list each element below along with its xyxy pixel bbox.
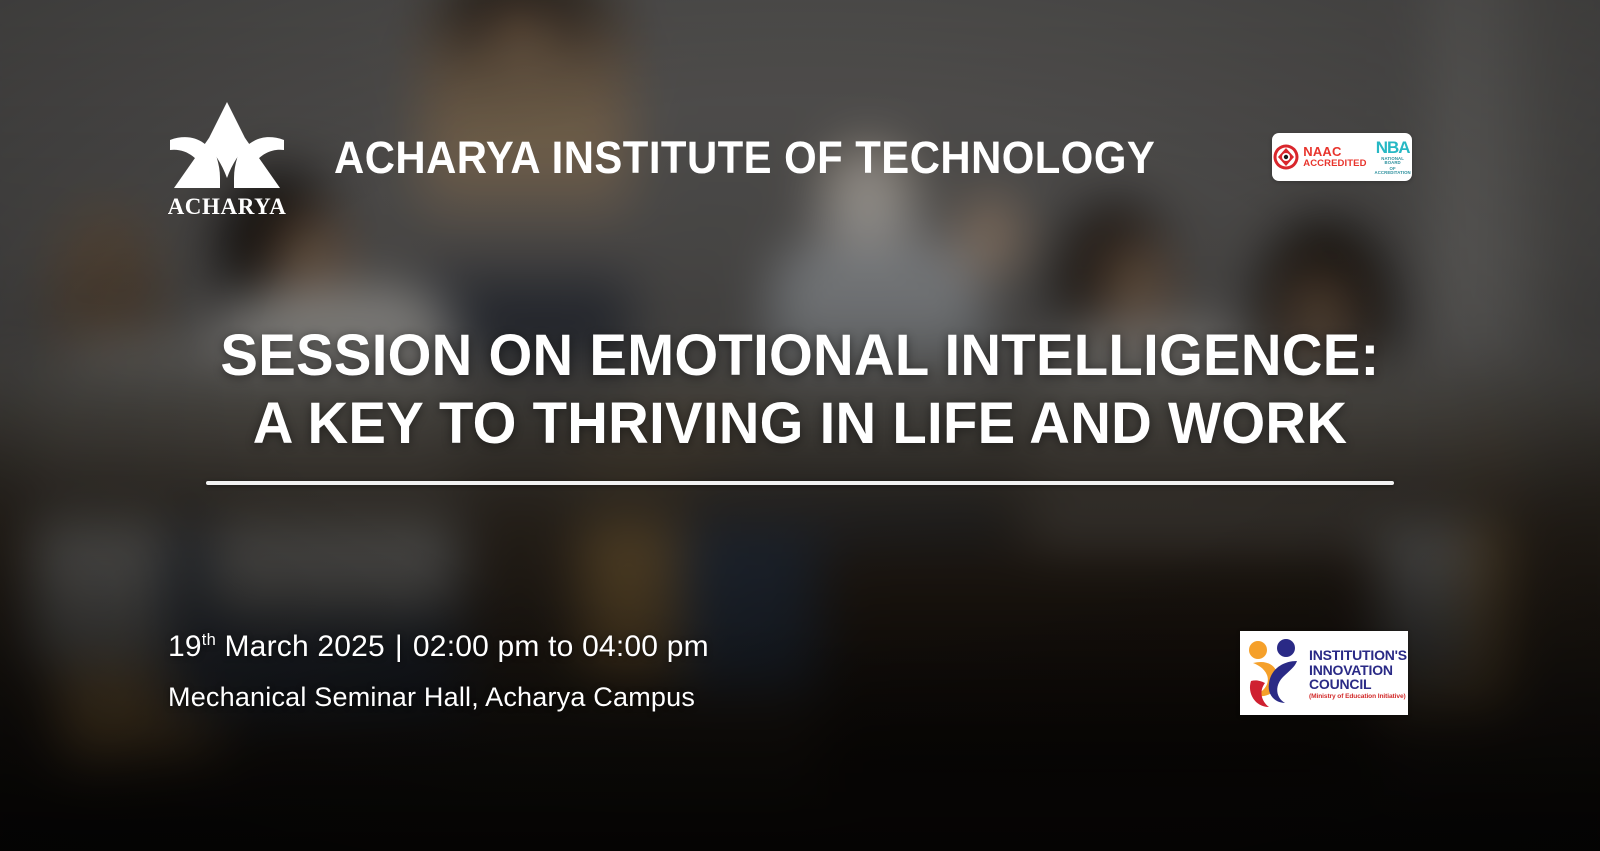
poster-content: ACHARYA ACHARYA INSTITUTE OF TECHNOLOGY …: [0, 0, 1600, 851]
naac-wordmark: NAAC ACCREDITED: [1303, 145, 1366, 169]
iic-line2: INNOVATION: [1309, 663, 1407, 677]
accreditation-badge: NAAC ACCREDITED NBA NATIONAL BOARD OF AC…: [1272, 133, 1412, 181]
naac-group: NAAC ACCREDITED: [1273, 144, 1366, 170]
event-time: 02:00 pm to 04:00 pm: [413, 630, 709, 663]
naac-seal-icon: [1273, 144, 1299, 170]
nba-sub-line2: OF ACCREDITATION: [1375, 167, 1411, 176]
naac-line2: ACCREDITED: [1303, 159, 1366, 169]
nba-mark: NBA: [1376, 139, 1410, 156]
event-datetime: 19th March 2025|02:00 pm to 04:00 pm: [168, 630, 709, 664]
acharya-triangle-logo-icon: ACHARYA: [168, 96, 286, 220]
event-date-rest: March 2025: [216, 630, 385, 663]
iic-line1: INSTITUTION'S: [1309, 648, 1407, 662]
iic-line4: (Ministry of Education Initiative): [1309, 694, 1407, 701]
event-venue: Mechanical Seminar Hall, Acharya Campus: [168, 682, 709, 713]
nba-group: NBA NATIONAL BOARD OF ACCREDITATION: [1375, 139, 1411, 175]
poster-title-line-2: A KEY TO THRIVING IN LIFE AND WORK: [24, 390, 1576, 458]
event-poster: ACHARYA ACHARYA INSTITUTE OF TECHNOLOGY …: [0, 0, 1600, 851]
nba-sub-line1: NATIONAL BOARD: [1375, 157, 1411, 166]
iic-badge: INSTITUTION'S INNOVATION COUNCIL (Minist…: [1240, 631, 1408, 715]
poster-title-block: SESSION ON EMOTIONAL INTELLIGENCE: A KEY…: [0, 322, 1600, 485]
event-date-ordinal: th: [202, 631, 216, 649]
poster-header: ACHARYA ACHARYA INSTITUTE OF TECHNOLOGY: [168, 96, 1420, 220]
institute-name: ACHARYA INSTITUTE OF TECHNOLOGY: [334, 132, 1155, 184]
poster-title-line-1: SESSION ON EMOTIONAL INTELLIGENCE:: [24, 322, 1576, 390]
event-details: 19th March 2025|02:00 pm to 04:00 pm Mec…: [168, 630, 709, 713]
iic-line3: COUNCIL: [1309, 677, 1407, 691]
svg-text:ACHARYA: ACHARYA: [168, 194, 286, 219]
event-date-day: 19: [168, 630, 202, 663]
iic-text-block: INSTITUTION'S INNOVATION COUNCIL (Minist…: [1309, 645, 1407, 701]
naac-line1: NAAC: [1303, 145, 1366, 158]
event-detail-separator: |: [385, 630, 413, 664]
title-underline-rule: [206, 481, 1394, 485]
iic-people-logo-icon: [1245, 637, 1305, 709]
